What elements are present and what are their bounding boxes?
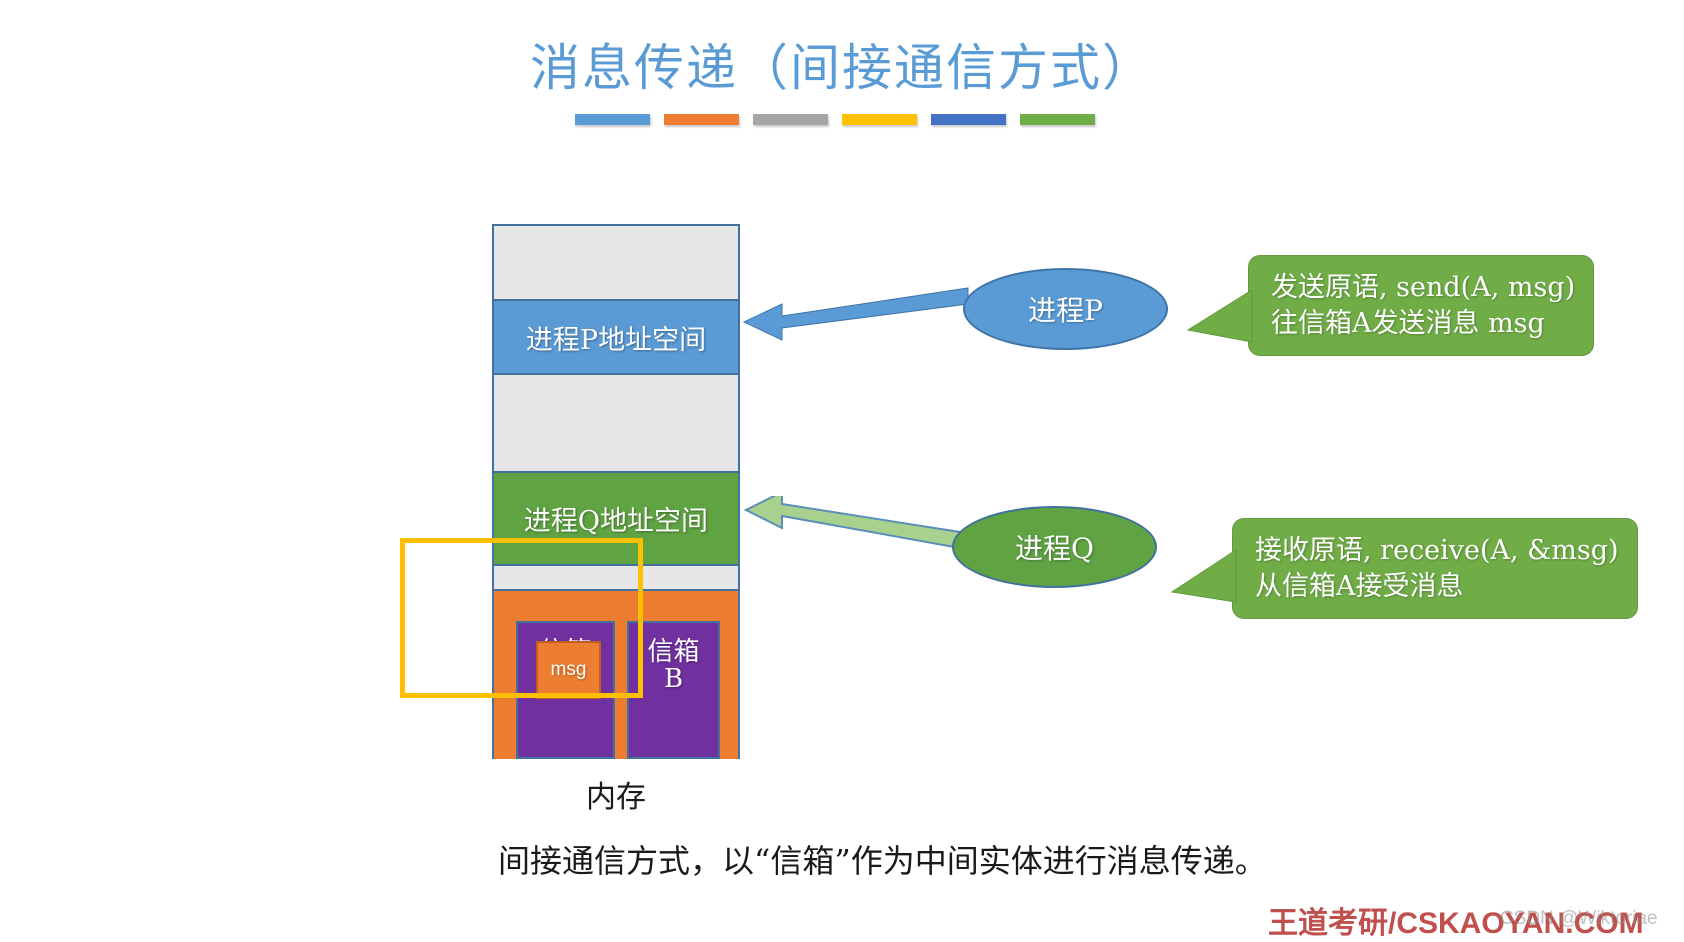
process-p-ellipse: 进程P xyxy=(963,268,1168,350)
memory-segment-process-q-label: 进程Q地址空间 xyxy=(524,499,708,538)
callout-receive-line2: 从信箱A接受消息 xyxy=(1255,569,1619,605)
bottom-caption: 间接通信方式，以“信箱”作为中间实体进行消息传递。 xyxy=(498,836,1267,882)
callout-send-tail xyxy=(1186,290,1256,345)
title-bar-gray xyxy=(753,114,828,125)
title-bar-yellow xyxy=(842,114,917,125)
process-p-label: 进程P xyxy=(1028,289,1103,329)
callout-send-primitive: 发送原语, send(A, msg) 往信箱A发送消息 msg xyxy=(1248,255,1594,356)
slide-canvas: 消息传递（间接通信方式） 进程P地址空间 进程Q地址空间 信箱 A msg 信 xyxy=(0,0,1684,942)
title-bar-blue xyxy=(575,114,650,125)
arrow-process-q xyxy=(742,496,962,566)
title-decoration-bars xyxy=(575,114,1095,126)
callout-receive-tail xyxy=(1170,550,1240,605)
memory-segment-process-p-label: 进程P地址空间 xyxy=(526,318,706,357)
callout-receive-primitive: 接收原语, receive(A, &msg) 从信箱A接受消息 xyxy=(1232,518,1638,619)
callout-send-line2: 往信箱A发送消息 msg xyxy=(1271,306,1575,342)
callout-send-line1: 发送原语, send(A, msg) xyxy=(1271,270,1575,306)
process-q-ellipse: 进程Q xyxy=(952,506,1157,588)
process-q-label: 进程Q xyxy=(1015,527,1094,567)
title-bar-darkblue xyxy=(931,114,1006,125)
page-title: 消息传递（间接通信方式） xyxy=(0,28,1684,100)
memory-segment-process-p: 进程P地址空间 xyxy=(494,301,738,373)
title-bar-orange xyxy=(664,114,739,125)
arrow-process-p xyxy=(740,278,970,348)
title-bar-green xyxy=(1020,114,1095,125)
memory-caption: 内存 xyxy=(492,772,740,816)
highlight-rectangle-annotation xyxy=(400,538,643,698)
callout-receive-line1: 接收原语, receive(A, &msg) xyxy=(1255,533,1619,569)
csdn-watermark: CSDN @Wiktoriae xyxy=(1500,908,1658,930)
